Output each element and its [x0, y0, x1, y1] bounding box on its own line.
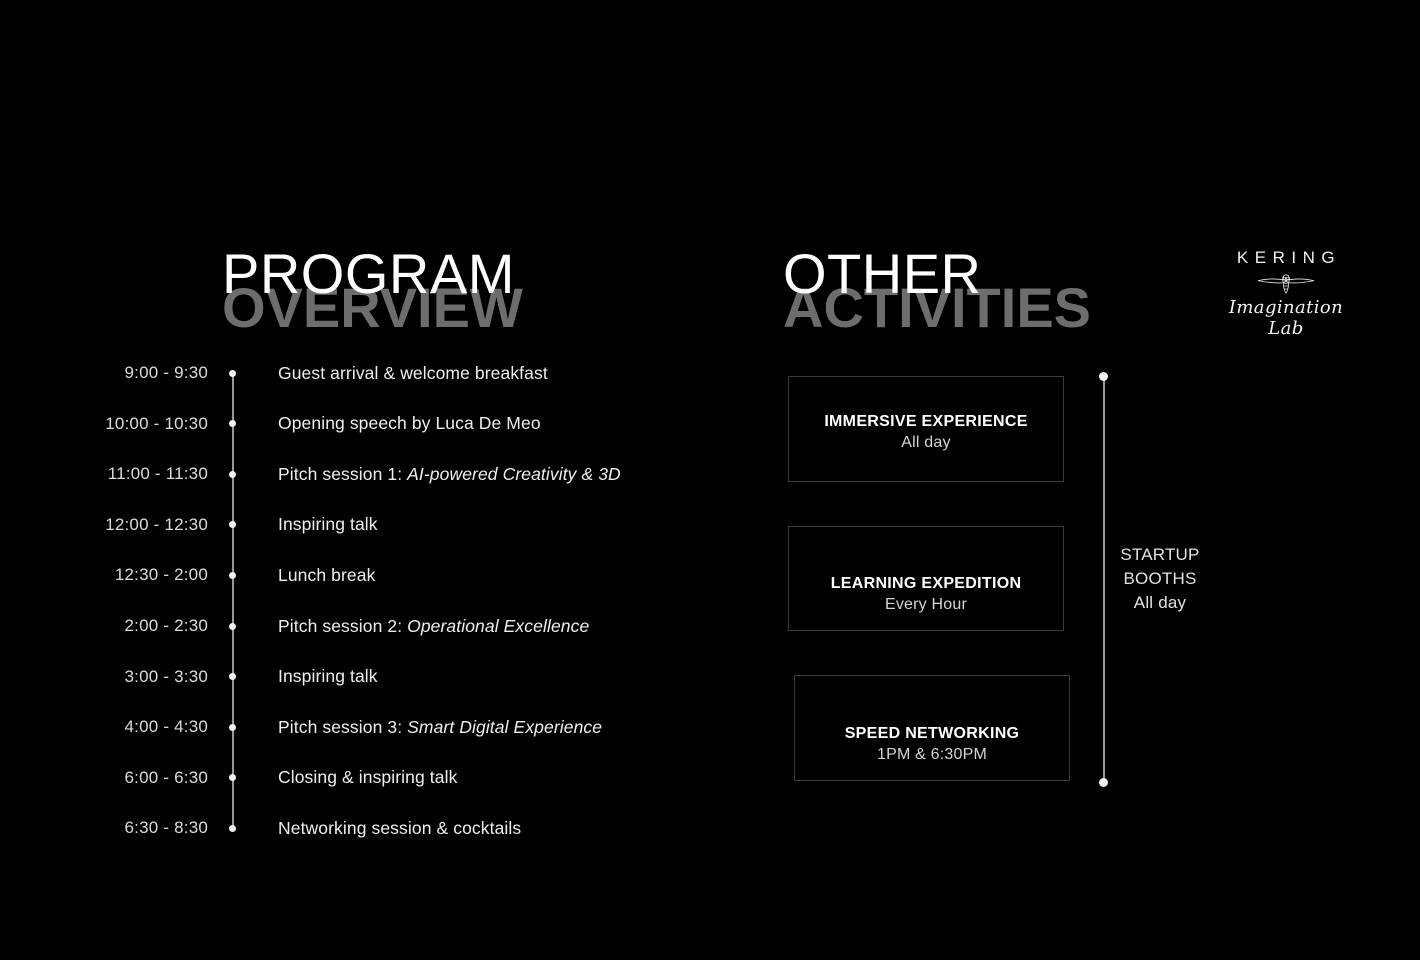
timeline-label-plain: Networking session & cocktails [278, 818, 521, 838]
startup-rail-dot-top [1099, 372, 1108, 381]
timeline-row: 3:00 - 3:30Inspiring talk [96, 664, 736, 690]
timeline-label: Guest arrival & welcome breakfast [256, 363, 548, 384]
kering-imagination-lab-logo: KERING Imagination Lab [1222, 248, 1350, 339]
timeline-dot [229, 623, 236, 630]
timeline-label: Pitch session 3: Smart Digital Experienc… [256, 717, 602, 738]
timeline-label-plain: Lunch break [278, 565, 375, 585]
timeline-time: 12:30 - 2:00 [96, 565, 208, 585]
activities-heading-top: OTHER [783, 246, 1091, 302]
timeline-dot-cell [208, 572, 256, 579]
timeline-dot-cell [208, 623, 256, 630]
timeline-dot [229, 825, 236, 832]
startup-booths-label: STARTUP BOOTHS All day [1100, 543, 1220, 615]
timeline-axis-line [232, 372, 234, 827]
activity-box-learning-expedition[interactable]: LEARNING EXPEDITION Every Hour [788, 526, 1064, 631]
timeline-dot-cell [208, 673, 256, 680]
timeline-row: 11:00 - 11:30Pitch session 1: AI-powered… [96, 461, 736, 487]
imagination-lab-script: Imagination Lab [1222, 297, 1350, 339]
program-timeline: 9:00 - 9:30Guest arrival & welcome break… [96, 360, 736, 850]
timeline-label-plain: Pitch session 2: [278, 616, 407, 636]
timeline-dot-cell [208, 471, 256, 478]
timeline-time: 10:00 - 10:30 [96, 414, 208, 434]
timeline-dot-cell [208, 724, 256, 731]
timeline-label: Opening speech by Luca De Meo [256, 413, 541, 434]
timeline-time: 9:00 - 9:30 [96, 363, 208, 383]
timeline-label: Pitch session 1: AI-powered Creativity &… [256, 464, 621, 485]
activity-box-immersive-experience[interactable]: IMMERSIVE EXPERIENCE All day [788, 376, 1064, 482]
timeline-row: 6:00 - 6:30Closing & inspiring talk [96, 765, 736, 791]
timeline-dot [229, 370, 236, 377]
activity-title: SPEED NETWORKING [845, 725, 1020, 743]
timeline-dot [229, 724, 236, 731]
timeline-time: 6:30 - 8:30 [96, 818, 208, 838]
timeline-dot [229, 673, 236, 680]
timeline-label: Closing & inspiring talk [256, 767, 457, 788]
startup-booths-line-1: STARTUP [1100, 543, 1220, 567]
startup-rail-dot-bottom [1099, 778, 1108, 787]
timeline-dot [229, 420, 236, 427]
timeline-dot-cell [208, 521, 256, 528]
startup-booths-line-2: BOOTHS [1100, 567, 1220, 591]
timeline-row: 10:00 - 10:30Opening speech by Luca De M… [96, 411, 736, 437]
timeline-row: 2:00 - 2:30Pitch session 2: Operational … [96, 613, 736, 639]
timeline-dot [229, 521, 236, 528]
timeline-label: Lunch break [256, 565, 375, 586]
activity-title: IMMERSIVE EXPERIENCE [824, 413, 1027, 431]
timeline-label-emphasis: Operational Excellence [407, 616, 589, 636]
activity-subtitle: All day [901, 434, 950, 452]
timeline-dot-cell [208, 825, 256, 832]
timeline-row: 12:30 - 2:00Lunch break [96, 562, 736, 588]
timeline-label-plain: Inspiring talk [278, 666, 378, 686]
timeline-label: Inspiring talk [256, 514, 378, 535]
timeline-time: 2:00 - 2:30 [96, 616, 208, 636]
startup-booths-line-3: All day [1100, 591, 1220, 615]
timeline-dot [229, 471, 236, 478]
timeline-dot-cell [208, 370, 256, 377]
timeline-dot-cell [208, 420, 256, 427]
timeline-label-plain: Pitch session 1: [278, 464, 407, 484]
timeline-row: 4:00 - 4:30Pitch session 3: Smart Digita… [96, 714, 736, 740]
owl-emblem-icon [1222, 273, 1350, 295]
slide-canvas: PROGRAM OVERVIEW OTHER ACTIVITIES 9:00 -… [0, 0, 1420, 960]
timeline-label: Networking session & cocktails [256, 818, 521, 839]
timeline-label-plain: Closing & inspiring talk [278, 767, 457, 787]
timeline-row: 12:00 - 12:30Inspiring talk [96, 512, 736, 538]
timeline-label-plain: Opening speech by Luca De Meo [278, 413, 541, 433]
timeline-label: Pitch session 2: Operational Excellence [256, 616, 589, 637]
timeline-dot [229, 774, 236, 781]
timeline-time: 11:00 - 11:30 [96, 464, 208, 484]
timeline-time: 6:00 - 6:30 [96, 768, 208, 788]
timeline-time: 4:00 - 4:30 [96, 717, 208, 737]
timeline-dot [229, 572, 236, 579]
timeline-row: 6:30 - 8:30Networking session & cocktail… [96, 815, 736, 841]
timeline-label: Inspiring talk [256, 666, 378, 687]
timeline-label-emphasis: AI-powered Creativity & 3D [407, 464, 621, 484]
activity-title: LEARNING EXPEDITION [831, 575, 1022, 593]
timeline-label-plain: Guest arrival & welcome breakfast [278, 363, 548, 383]
timeline-time: 3:00 - 3:30 [96, 667, 208, 687]
timeline-row: 9:00 - 9:30Guest arrival & welcome break… [96, 360, 736, 386]
program-heading-top: PROGRAM [222, 246, 523, 302]
activity-subtitle: Every Hour [885, 596, 967, 614]
timeline-label-plain: Pitch session 3: [278, 717, 407, 737]
activity-box-speed-networking[interactable]: SPEED NETWORKING 1PM & 6:30PM [794, 675, 1070, 781]
program-overview-heading: PROGRAM OVERVIEW [222, 246, 523, 336]
other-activities-heading: OTHER ACTIVITIES [783, 246, 1091, 336]
timeline-time: 12:00 - 12:30 [96, 515, 208, 535]
timeline-dot-cell [208, 774, 256, 781]
timeline-label-plain: Inspiring talk [278, 514, 378, 534]
kering-wordmark: KERING [1222, 248, 1350, 268]
timeline-label-emphasis: Smart Digital Experience [407, 717, 602, 737]
activity-subtitle: 1PM & 6:30PM [877, 746, 987, 764]
